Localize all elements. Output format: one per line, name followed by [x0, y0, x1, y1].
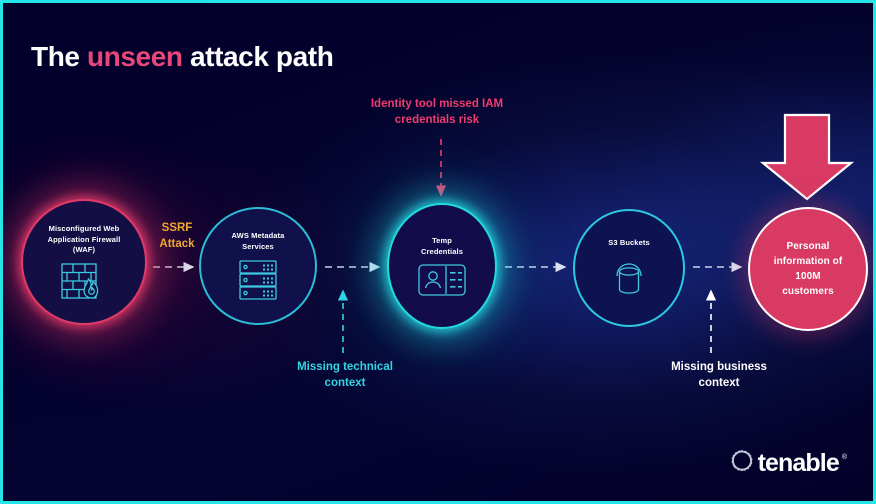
annotation-iam-risk: Identity tool missed IAM credentials ris…	[341, 96, 533, 128]
node-misconfigured-waf[interactable]: Misconfigured Web Application Firewall (…	[21, 199, 147, 325]
tenable-logo: tenable ®	[729, 448, 847, 479]
bucket-icon	[606, 254, 652, 298]
node-temp-credentials[interactable]: Temp Credentials	[387, 203, 497, 329]
node-label: Temp Credentials	[407, 236, 477, 258]
node-label: Misconfigured Web Application Firewall (…	[34, 224, 135, 257]
annotation-missing-technical-context: Missing technical context	[265, 359, 425, 391]
firewall-flame-icon	[61, 262, 107, 300]
edge-label-ssrf-attack: SSRF Attack	[151, 221, 203, 252]
title-prefix: The	[31, 41, 87, 72]
tenable-wordmark: tenable	[758, 449, 839, 478]
title-highlight: unseen	[87, 41, 183, 72]
node-label: Personal information of 100M customers	[762, 239, 855, 299]
tenable-polygon-icon	[729, 448, 755, 479]
title-suffix: attack path	[183, 41, 334, 72]
node-label: AWS Metadata Services	[218, 231, 299, 253]
page-title: The unseen attack path	[31, 41, 333, 73]
server-rack-icon	[237, 259, 279, 301]
node-aws-metadata-services[interactable]: AWS Metadata Services	[199, 207, 317, 325]
node-s3-buckets[interactable]: S3 Buckets	[573, 209, 685, 327]
node-personal-information[interactable]: Personal information of 100M customers	[748, 207, 868, 331]
annotation-missing-business-context: Missing business context	[639, 359, 799, 391]
impact-down-arrow	[763, 115, 851, 199]
id-card-icon	[418, 264, 466, 296]
trademark-symbol: ®	[842, 454, 847, 461]
slide-canvas: The unseen attack path	[0, 0, 876, 504]
node-label: S3 Buckets	[594, 238, 663, 249]
